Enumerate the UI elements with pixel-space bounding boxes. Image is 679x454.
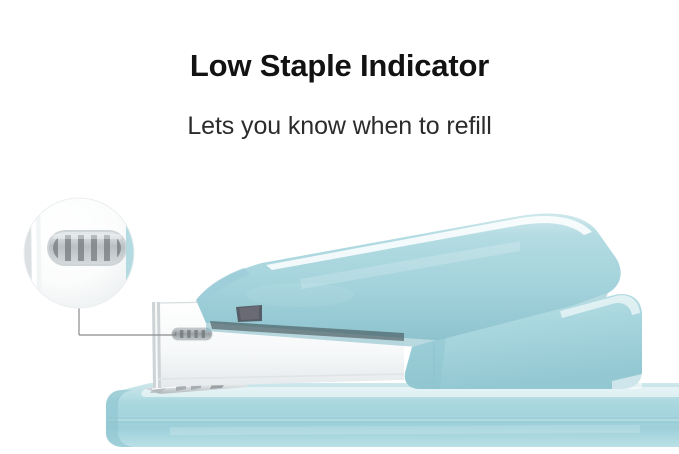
staple-indicator-window-zoom [48, 231, 126, 265]
product-feature-image: Low Staple Indicator Lets you know when … [0, 0, 679, 454]
stapler-illustration [0, 175, 679, 454]
product-photo [0, 175, 679, 454]
page-subtitle: Lets you know when to refill [0, 113, 679, 141]
page-title: Low Staple Indicator [0, 50, 679, 83]
stapler-base [106, 383, 679, 447]
low-staple-indicator-zoom [18, 197, 142, 318]
